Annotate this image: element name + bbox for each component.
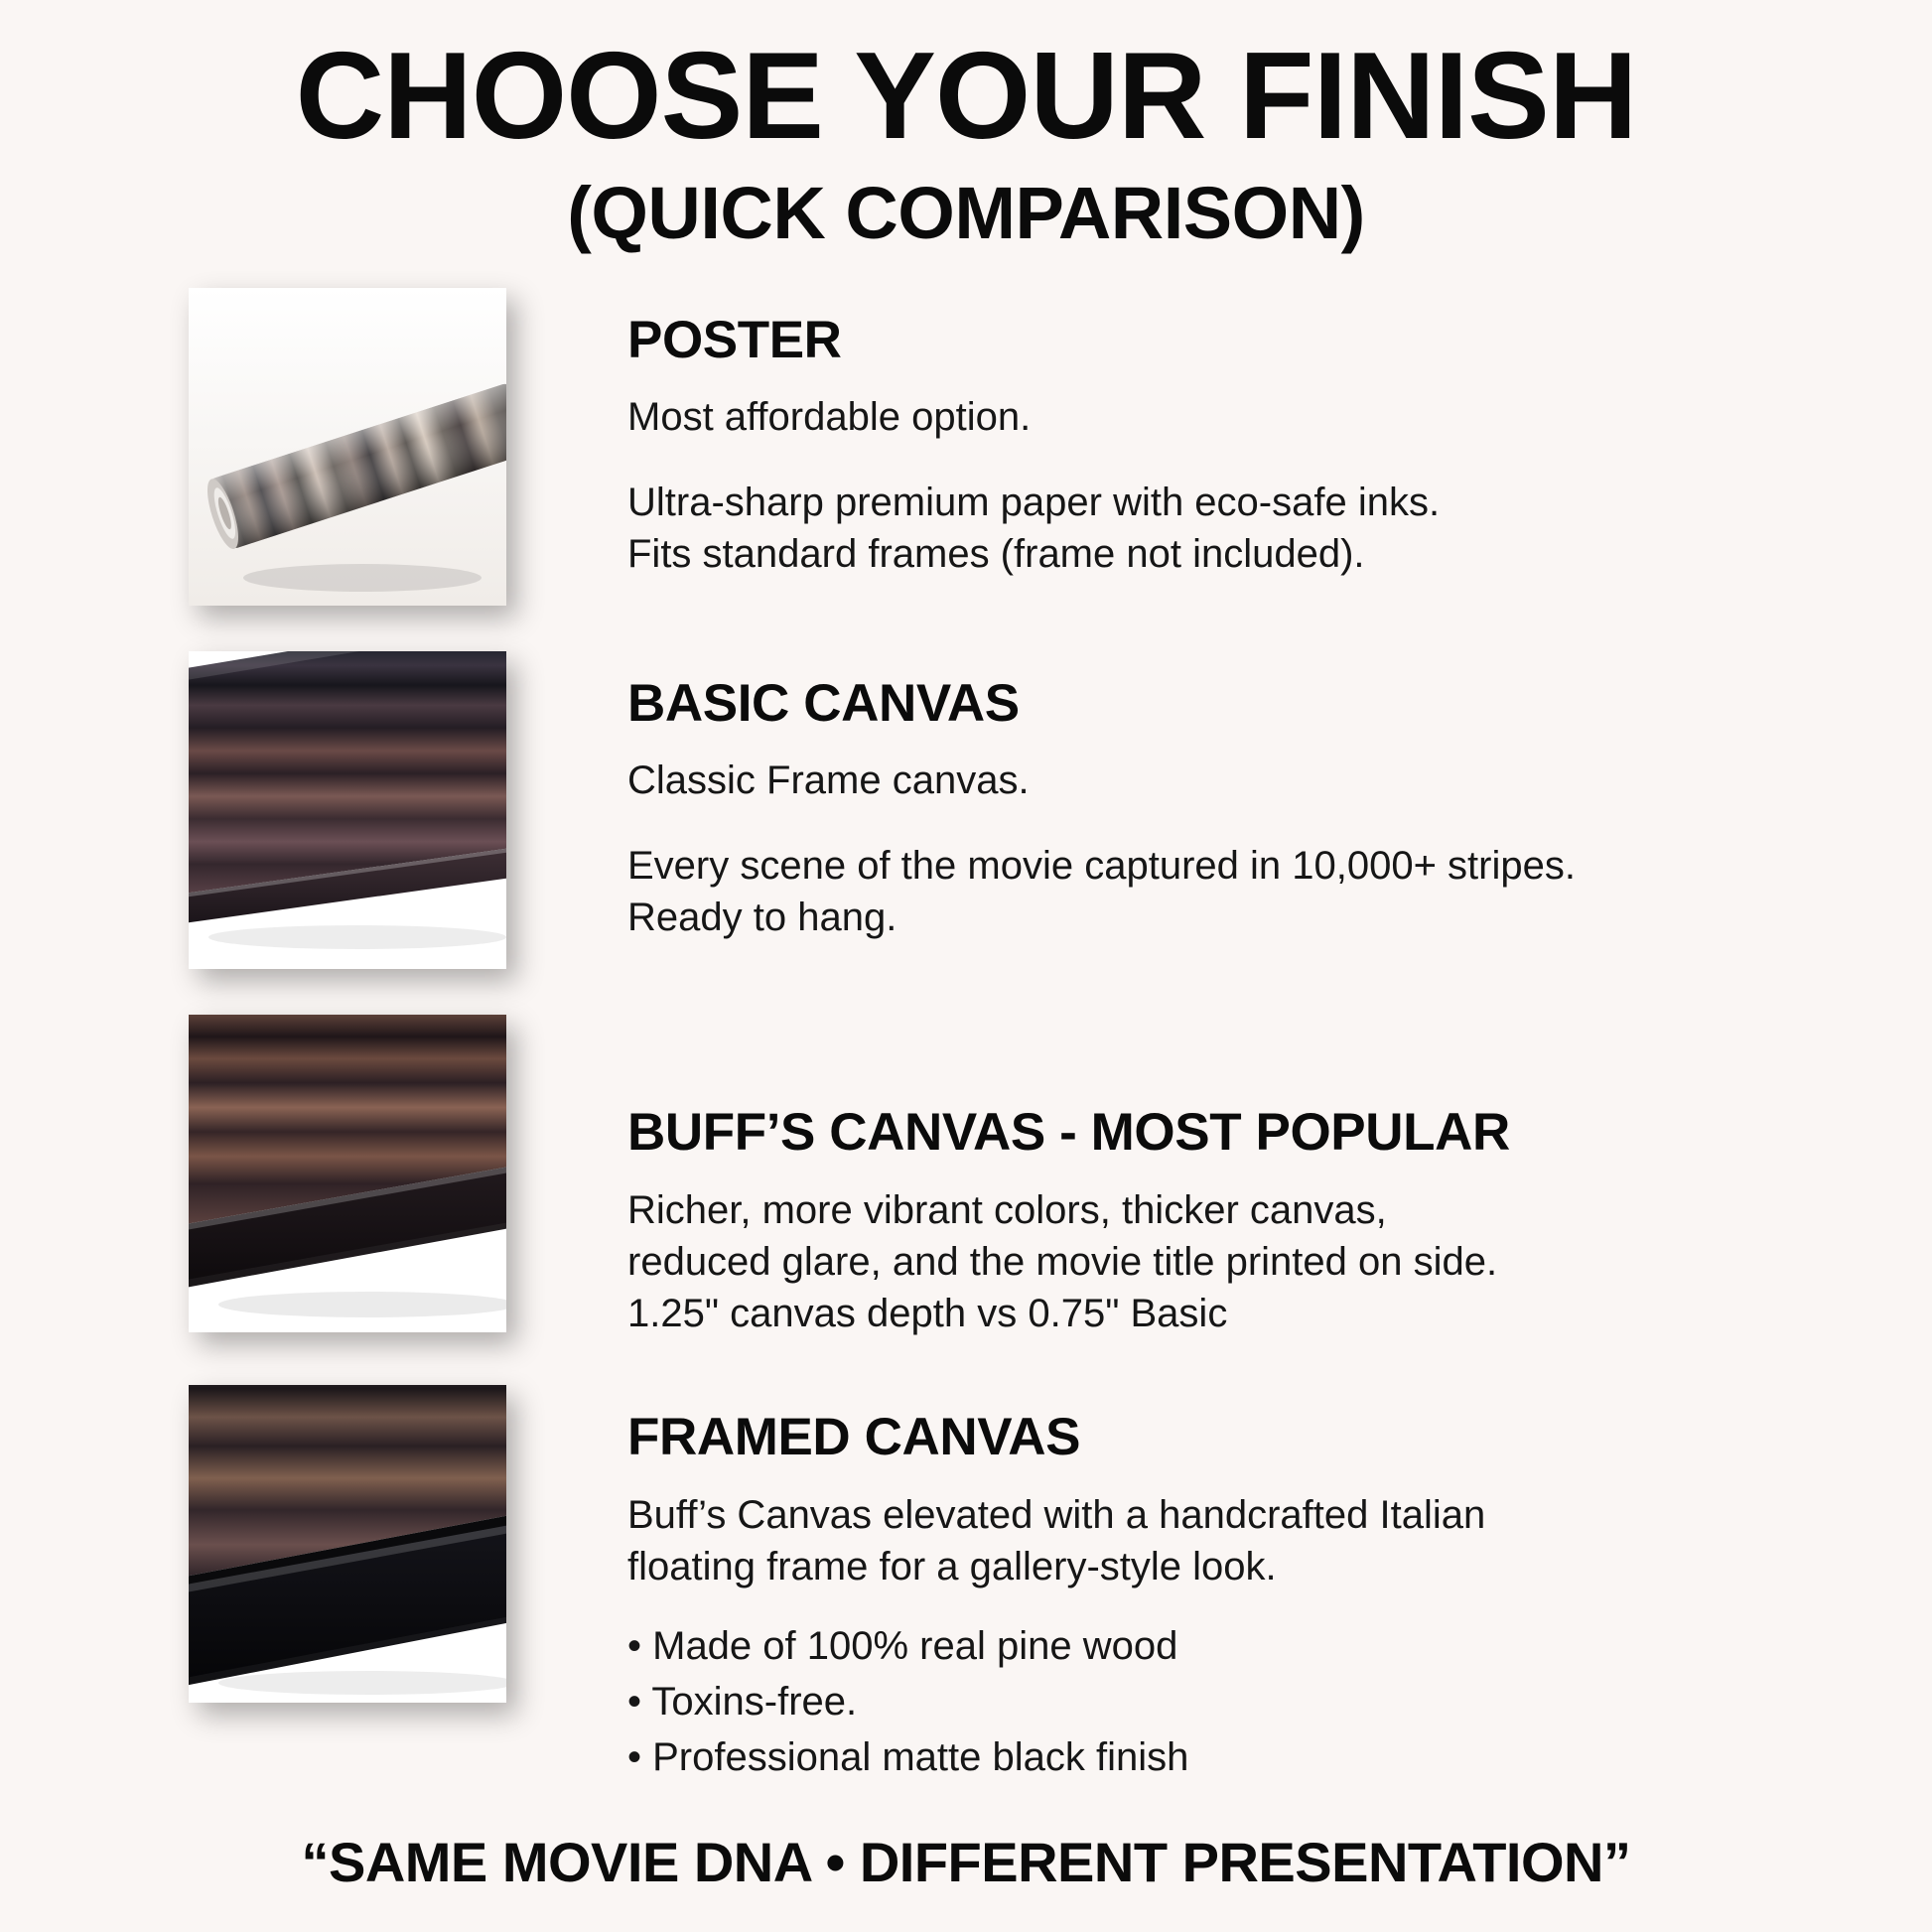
option-title: BUFF’S CANVAS - MOST POPULAR bbox=[627, 1102, 1510, 1163]
bullet-item: • Professional matte black finish bbox=[627, 1729, 1485, 1785]
option-detail-line: Buff’s Canvas elevated with a handcrafte… bbox=[627, 1489, 1485, 1541]
option-detail-line: Ready to hang. bbox=[627, 892, 1576, 943]
basic-canvas-thumbnail-wrap bbox=[189, 651, 506, 969]
option-details: Every scene of the movie captured in 10,… bbox=[627, 840, 1576, 943]
poster-thumbnail-wrap bbox=[189, 288, 506, 606]
buffs-canvas-corner-photo bbox=[189, 1015, 506, 1332]
option-detail-line: Richer, more vibrant colors, thicker can… bbox=[627, 1184, 1510, 1236]
footer-tagline: “SAME MOVIE DNA • DIFFERENT PRESENTATION… bbox=[0, 1830, 1932, 1894]
option-details: Richer, more vibrant colors, thicker can… bbox=[627, 1184, 1510, 1339]
option-details: Buff’s Canvas elevated with a handcrafte… bbox=[627, 1489, 1485, 1592]
option-detail-line: reduced glare, and the movie title print… bbox=[627, 1236, 1510, 1288]
framed-canvas-thumbnail-wrap bbox=[189, 1385, 506, 1703]
option-detail-line: Ultra-sharp premium paper with eco-safe … bbox=[627, 477, 1440, 528]
finish-option-buffs-canvas[interactable]: BUFF’S CANVAS - MOST POPULAR Richer, mor… bbox=[0, 1015, 1932, 1339]
option-detail-line: 1.25" canvas depth vs 0.75" Basic bbox=[627, 1288, 1510, 1339]
bullet-item: • Toxins-free. bbox=[627, 1674, 1485, 1729]
finish-option-framed-canvas[interactable]: FRAMED CANVAS Buff’s Canvas elevated wit… bbox=[0, 1385, 1932, 1785]
basic-canvas-text-block: BASIC CANVAS Classic Frame canvas. Every… bbox=[506, 651, 1576, 943]
option-title: BASIC CANVAS bbox=[627, 673, 1576, 734]
option-bullets: • Made of 100% real pine wood • Toxins-f… bbox=[627, 1618, 1485, 1785]
bullet-item: • Made of 100% real pine wood bbox=[627, 1618, 1485, 1674]
option-lead: Classic Frame canvas. bbox=[627, 756, 1576, 806]
buffs-canvas-thumbnail-wrap bbox=[189, 1015, 506, 1332]
buffs-canvas-text-block: BUFF’S CANVAS - MOST POPULAR Richer, mor… bbox=[506, 1015, 1510, 1339]
finish-options-list: POSTER Most affordable option. Ultra-sha… bbox=[0, 288, 1932, 1785]
header: CHOOSE YOUR FINISH (QUICK COMPARISON) bbox=[0, 0, 1932, 252]
rolled-poster-photo bbox=[189, 288, 506, 606]
option-title: FRAMED CANVAS bbox=[627, 1407, 1485, 1467]
finish-option-poster[interactable]: POSTER Most affordable option. Ultra-sha… bbox=[0, 288, 1932, 606]
option-detail-line: Every scene of the movie captured in 10,… bbox=[627, 840, 1576, 892]
framed-canvas-text-block: FRAMED CANVAS Buff’s Canvas elevated wit… bbox=[506, 1385, 1485, 1785]
poster-text-block: POSTER Most affordable option. Ultra-sha… bbox=[506, 288, 1440, 580]
option-details: Ultra-sharp premium paper with eco-safe … bbox=[627, 477, 1440, 580]
page-title: CHOOSE YOUR FINISH bbox=[0, 34, 1932, 159]
basic-canvas-edge-photo bbox=[189, 651, 506, 969]
framed-canvas-corner-photo bbox=[189, 1385, 506, 1703]
finish-option-basic-canvas[interactable]: BASIC CANVAS Classic Frame canvas. Every… bbox=[0, 651, 1932, 969]
option-detail-line: floating frame for a gallery-style look. bbox=[627, 1541, 1485, 1592]
option-detail-line: Fits standard frames (frame not included… bbox=[627, 528, 1440, 580]
option-lead: Most affordable option. bbox=[627, 392, 1440, 443]
option-title: POSTER bbox=[627, 310, 1440, 370]
page-subtitle: (QUICK COMPARISON) bbox=[0, 175, 1932, 252]
